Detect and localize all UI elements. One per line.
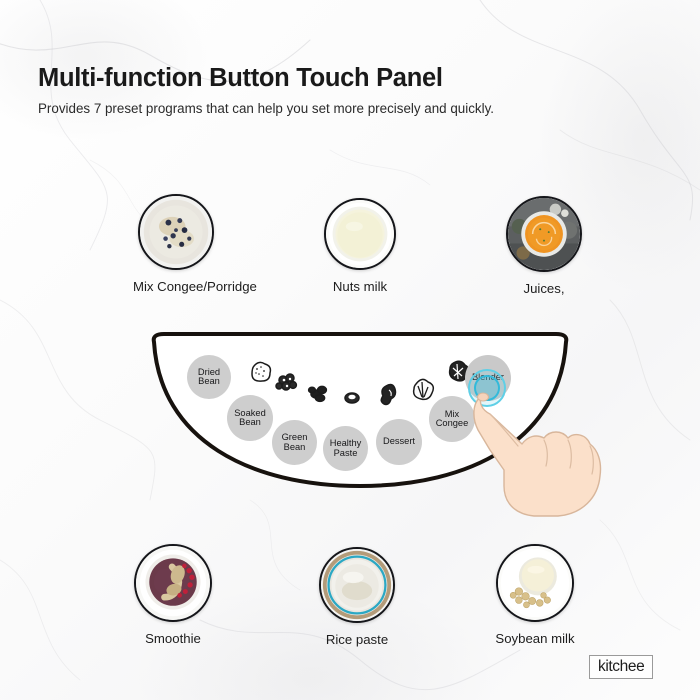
pointing-hand-illustration (470, 378, 620, 518)
button-label-line2: Bean (198, 376, 220, 386)
header: Multi-function Button Touch Panel Provid… (38, 64, 668, 117)
food-label: Mix Congee/Porridge (133, 279, 219, 294)
food-label: Rice paste (319, 632, 395, 647)
smoothie-bowl-photo (134, 544, 212, 622)
brand-logo-text: kitchee (598, 658, 644, 675)
porridge-bowl-photo (138, 194, 214, 270)
button-label-line2: Paste (334, 448, 358, 458)
food-item-rice-paste[interactable]: Rice paste (319, 547, 395, 647)
rice-paste-bowl-photo (319, 547, 395, 623)
program-button-dried-bean[interactable]: Dried Bean (187, 355, 231, 399)
program-button-dessert[interactable]: Dessert (376, 419, 422, 465)
garlic-icon (414, 379, 434, 399)
rice-grain-icon (252, 362, 270, 381)
soybean-milk-glass-photo (496, 544, 574, 622)
page-subtitle: Provides 7 preset programs that can help… (38, 101, 668, 117)
ginger-root-icon (381, 385, 395, 405)
program-button-healthy-paste[interactable]: Healthy Paste (323, 426, 368, 471)
food-item-soybean-milk[interactable]: Soybean milk (494, 544, 576, 646)
button-label-line1: Dessert (383, 437, 415, 446)
button-label-line2: Bean (284, 442, 306, 452)
lentil-icon (345, 393, 359, 403)
page-title: Multi-function Button Touch Panel (38, 64, 668, 92)
food-label: Juices, (504, 281, 584, 296)
juice-soup-bowl-photo (506, 196, 582, 272)
program-button-mix-congee[interactable]: Mix Congee (429, 396, 475, 442)
nuts-milk-bowl-photo (324, 198, 396, 270)
food-item-smoothie[interactable]: Smoothie (132, 544, 214, 646)
food-label: Smoothie (132, 631, 214, 646)
button-label-line2: Congee (436, 418, 469, 428)
peanut-cluster-icon (276, 374, 296, 390)
button-label-line2: Bean (239, 417, 261, 427)
food-item-nuts-milk[interactable]: Nuts milk (324, 198, 396, 294)
food-item-juices[interactable]: Juices, (504, 196, 584, 296)
food-item-mix-congee[interactable]: Mix Congee/Porridge (133, 194, 219, 294)
program-button-soaked-bean[interactable]: Soaked Bean (227, 395, 273, 441)
food-label: Nuts milk (324, 279, 396, 294)
food-label: Soybean milk (494, 631, 576, 646)
program-button-green-bean[interactable]: Green Bean (272, 420, 317, 465)
brand-logo: kitchee (589, 655, 653, 679)
bean-pile-icon (309, 386, 327, 401)
